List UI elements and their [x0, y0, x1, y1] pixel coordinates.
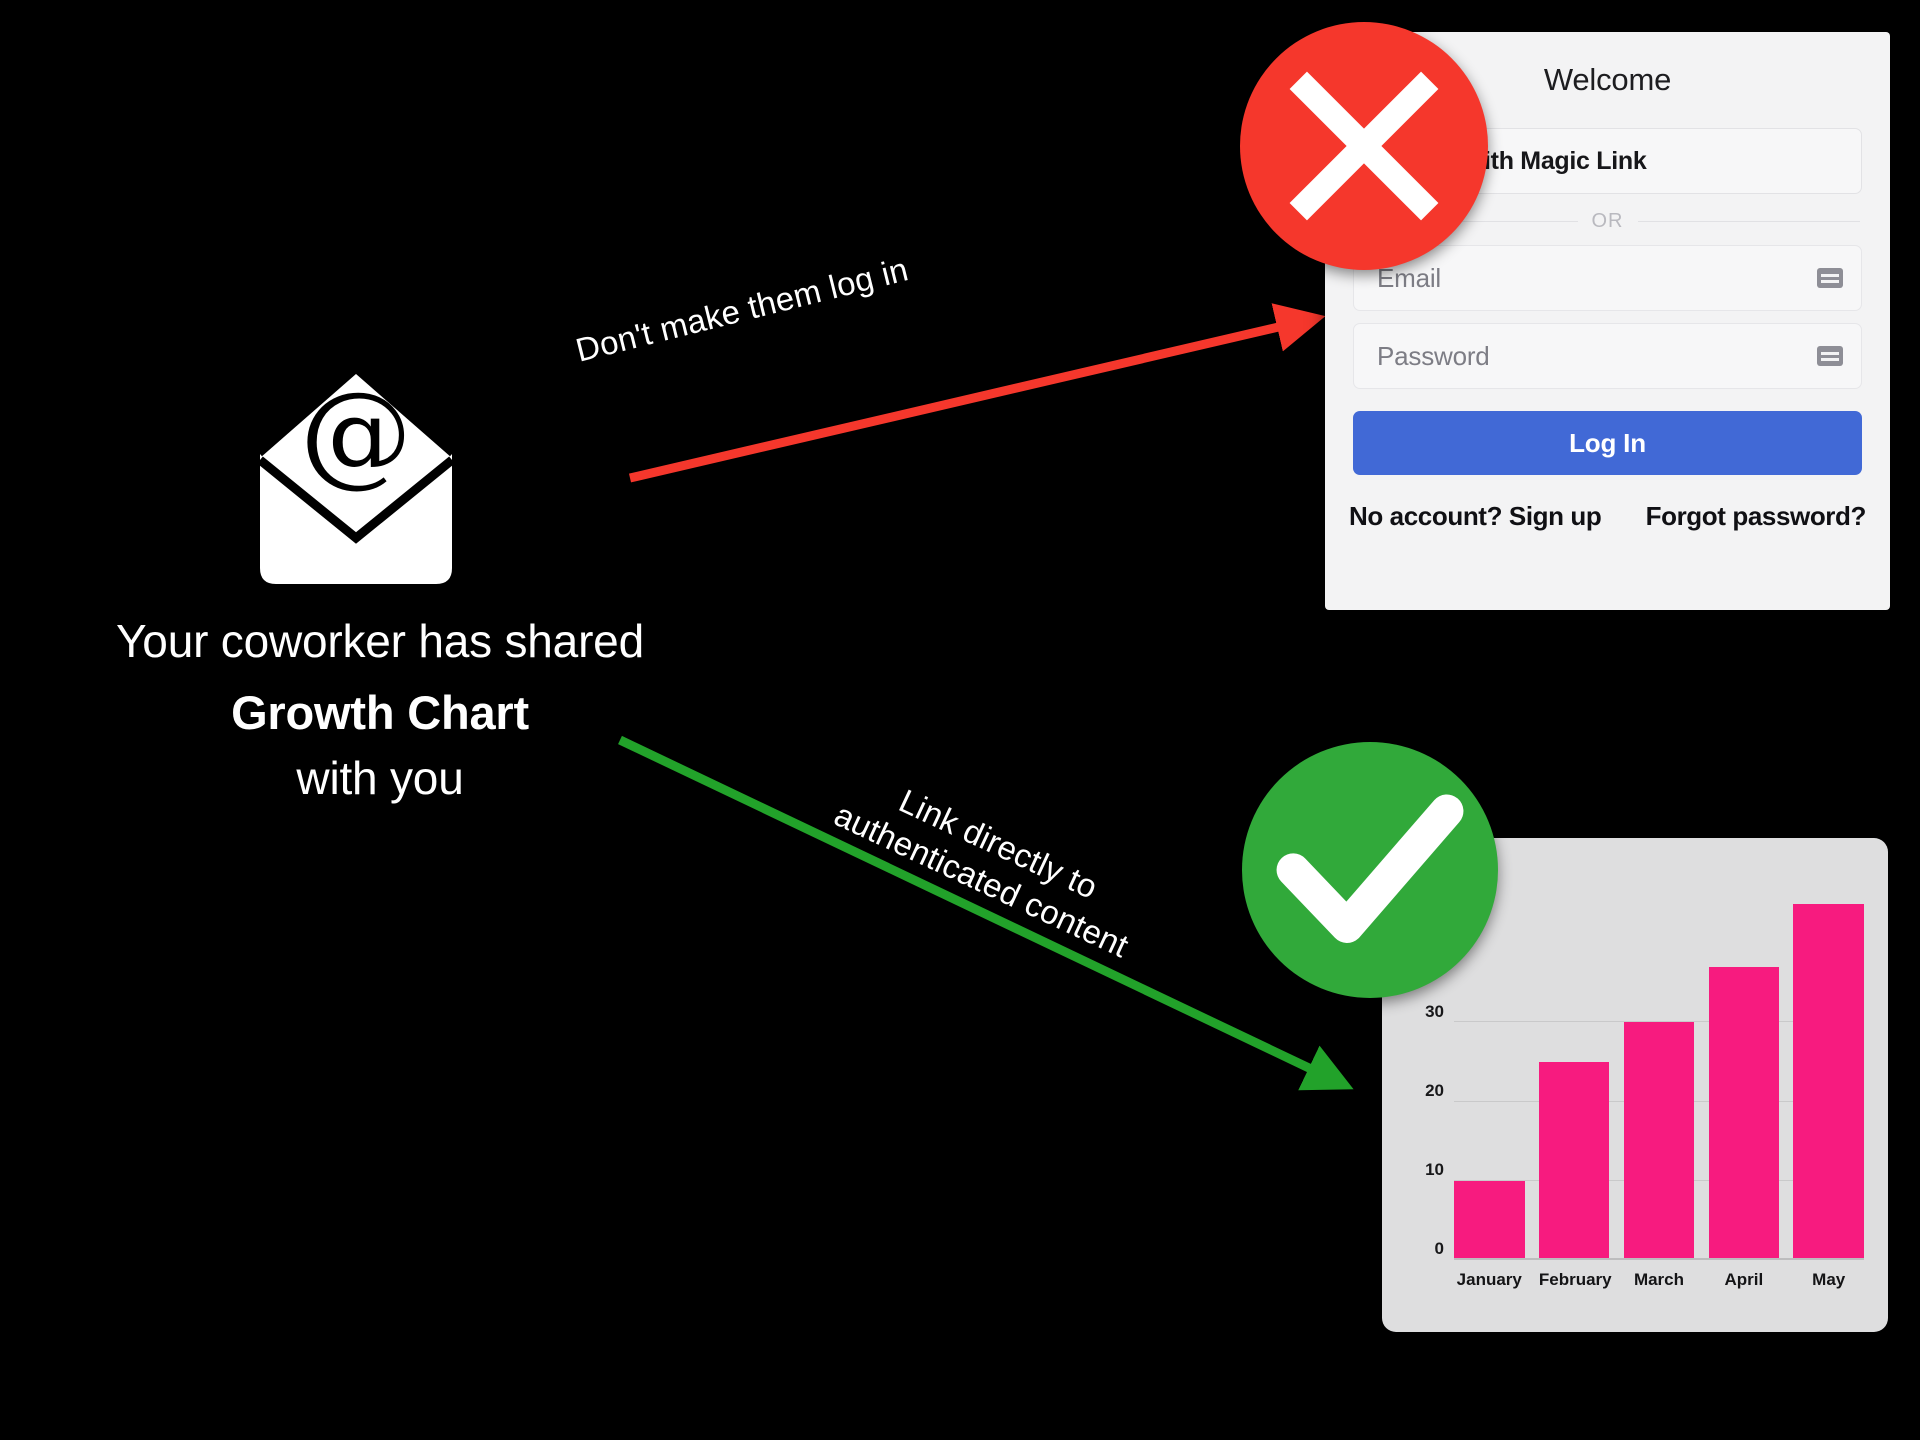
chart-bar-wrapper [1793, 864, 1864, 1260]
divider-rule-right [1638, 221, 1861, 222]
divider-label: OR [1592, 210, 1624, 233]
keyboard-icon[interactable] [1817, 268, 1843, 288]
chart-bar [1709, 967, 1780, 1260]
svg-text:@: @ [300, 369, 412, 499]
password-field[interactable]: Password [1353, 323, 1862, 389]
email-envelope-icon: @ [258, 368, 454, 586]
chart-x-axis-labels: JanuaryFebruaryMarchAprilMay [1454, 1270, 1864, 1290]
sign-up-link[interactable]: No account? Sign up [1349, 501, 1601, 532]
chart-bar-wrapper [1624, 864, 1695, 1260]
chart-y-tick-label: 0 [1435, 1239, 1444, 1259]
chart-bar-wrapper [1539, 864, 1610, 1260]
login-footer-links: No account? Sign up Forgot password? [1349, 501, 1866, 532]
chart-bar-wrapper [1709, 864, 1780, 1260]
chart-bar [1454, 1181, 1525, 1260]
chart-bar [1624, 1022, 1695, 1260]
chart-x-tick-label: January [1454, 1270, 1525, 1290]
x-mark-icon [1240, 22, 1488, 270]
log-in-button[interactable]: Log In [1353, 411, 1862, 475]
password-field-placeholder: Password [1377, 341, 1817, 372]
chart-bar [1793, 904, 1864, 1260]
chart-x-tick-label: March [1624, 1270, 1695, 1290]
check-mark-icon [1242, 742, 1498, 998]
red-arrow-label: Don't make them log in [572, 250, 912, 369]
chart-x-tick-label: February [1539, 1270, 1610, 1290]
chart-plot-area: 0102030 [1454, 864, 1864, 1260]
share-message-line3: with you [0, 749, 760, 809]
chart-bars [1454, 864, 1864, 1260]
keyboard-icon[interactable] [1817, 346, 1843, 366]
share-message-document-name: Growth Chart [0, 682, 760, 743]
chart-y-tick-label: 30 [1425, 1002, 1444, 1022]
share-message-line1: Your coworker has shared [0, 612, 760, 672]
log-in-button-label: Log In [1569, 428, 1646, 459]
chart-bar [1539, 1062, 1610, 1260]
forgot-password-link[interactable]: Forgot password? [1646, 501, 1866, 532]
chart-y-tick-label: 20 [1425, 1081, 1444, 1101]
chart-x-tick-label: May [1793, 1270, 1864, 1290]
chart-x-axis-line [1454, 1258, 1864, 1260]
chart-y-tick-label: 10 [1425, 1160, 1444, 1180]
chart-x-tick-label: April [1709, 1270, 1780, 1290]
red-arrow [630, 322, 1300, 478]
share-message: Your coworker has shared Growth Chart wi… [0, 612, 760, 809]
green-arrow-label: Link directly to authenticated content [828, 759, 1151, 966]
